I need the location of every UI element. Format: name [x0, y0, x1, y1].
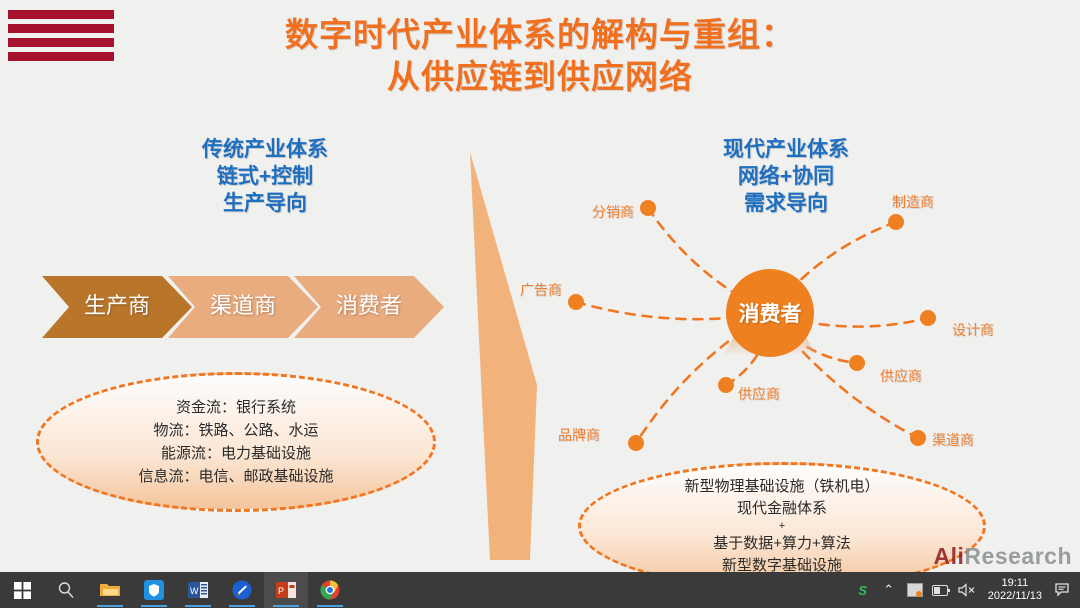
- infrastructure-line: 物流：铁路、公路、水运: [138, 419, 333, 442]
- network-node-dot: [628, 435, 644, 451]
- blue-disc-icon[interactable]: [220, 572, 264, 608]
- modern-infrastructure-ellipse: 新型物理基础设施（铁机电）现代金融体系+基于数据+算力+算法新型数字基础设施: [578, 462, 986, 572]
- watermark-research: Research: [964, 543, 1072, 569]
- watermark-ali: Ali: [934, 543, 965, 569]
- title-line-1: 数字时代产业体系的解构与重组：: [190, 14, 890, 56]
- linear-supply-chain: 生产商渠道商消费者: [42, 276, 442, 338]
- chevron-up-icon[interactable]: ⌃: [876, 572, 902, 608]
- infrastructure-line: 新型数字基础设施: [684, 555, 879, 573]
- powerpoint-icon[interactable]: P: [264, 572, 308, 608]
- windows-taskbar[interactable]: W P S ⌃ 19:11 2022/11/13: [0, 572, 1080, 608]
- network-node-dot: [849, 355, 865, 371]
- chevron-label: 消费者: [336, 294, 402, 319]
- svg-text:W: W: [190, 586, 199, 596]
- chevron-label: 生产商: [84, 294, 150, 319]
- page-title: 数字时代产业体系的解构与重组： 从供应链到供应网络: [190, 14, 890, 98]
- left-section-heading: 传统产业体系 链式+控制 生产导向: [155, 136, 375, 217]
- infrastructure-line: 基于数据+算力+算法: [684, 533, 879, 555]
- infrastructure-line: 信息流：电信、邮政基础设施: [138, 465, 333, 488]
- right-heading-line-1: 现代产业体系: [672, 136, 900, 163]
- network-node-label-1: 分销商: [592, 202, 634, 222]
- file-explorer-icon[interactable]: [88, 572, 132, 608]
- clock[interactable]: 19:11 2022/11/13: [980, 577, 1050, 603]
- network-node-label-2: 制造商: [892, 192, 934, 212]
- consumer-hub-node: 消费者: [726, 269, 814, 357]
- battery-icon[interactable]: [928, 572, 954, 608]
- ali-research-bars-logo: [8, 10, 114, 68]
- clock-date: 2022/11/13: [988, 590, 1042, 603]
- presentation-slide: 数字时代产业体系的解构与重组： 从供应链到供应网络 传统产业体系 链式+控制 生…: [0, 0, 1080, 572]
- network-node-label-8: 渠道商: [932, 430, 974, 450]
- network-node-label-5: 供应商: [880, 366, 922, 386]
- chrome-icon[interactable]: [308, 572, 352, 608]
- notification-icon[interactable]: [1050, 572, 1076, 608]
- network-node-dot: [718, 377, 734, 393]
- svg-text:P: P: [278, 586, 284, 596]
- traditional-infrastructure-ellipse: 资金流：银行系统物流：铁路、公路、水运能源流：电力基础设施信息流：电信、邮政基础…: [36, 372, 436, 512]
- clock-time: 19:11: [988, 577, 1042, 590]
- modern-infrastructure-lines: 新型物理基础设施（铁机电）现代金融体系+基于数据+算力+算法新型数字基础设施: [684, 476, 879, 573]
- left-heading-line-3: 生产导向: [155, 190, 375, 217]
- start-button[interactable]: [0, 572, 44, 608]
- search-icon[interactable]: [44, 572, 88, 608]
- network-node-dot: [910, 430, 926, 446]
- chevron-label: 渠道商: [210, 294, 276, 319]
- infrastructure-line: 现代金融体系: [684, 498, 879, 520]
- left-heading-line-1: 传统产业体系: [155, 136, 375, 163]
- network-node-dot: [888, 214, 904, 230]
- chevron-1: 生产商: [42, 276, 192, 338]
- security-shield-icon[interactable]: [132, 572, 176, 608]
- infrastructure-line: 新型物理基础设施（铁机电）: [684, 476, 879, 498]
- infrastructure-line: 能源流：电力基础设施: [138, 442, 333, 465]
- network-node-dot: [640, 200, 656, 216]
- traditional-infrastructure-lines: 资金流：银行系统物流：铁路、公路、水运能源流：电力基础设施信息流：电信、邮政基础…: [138, 396, 333, 488]
- sogou-ime-icon[interactable]: S: [850, 572, 876, 608]
- infrastructure-line: 资金流：银行系统: [138, 396, 333, 419]
- speaker-muted-icon[interactable]: [954, 572, 980, 608]
- network-node-dot: [920, 310, 936, 326]
- ali-research-watermark: AliResearch: [934, 543, 1072, 570]
- ime-status-icon[interactable]: [902, 572, 928, 608]
- network-node-label-3: 广告商: [520, 280, 562, 300]
- network-node-label-6: 供应商: [738, 384, 780, 404]
- consumer-hub-label: 消费者: [739, 298, 802, 328]
- word-icon[interactable]: W: [176, 572, 220, 608]
- left-heading-line-2: 链式+控制: [155, 163, 375, 190]
- network-node-label-7: 品牌商: [558, 425, 600, 445]
- network-node-label-4: 设计商: [952, 320, 994, 340]
- system-tray[interactable]: S ⌃ 19:11 2022/11/13: [850, 572, 1080, 608]
- network-node-dot: [568, 294, 584, 310]
- title-line-2: 从供应链到供应网络: [190, 56, 890, 98]
- infrastructure-line: +: [684, 520, 879, 533]
